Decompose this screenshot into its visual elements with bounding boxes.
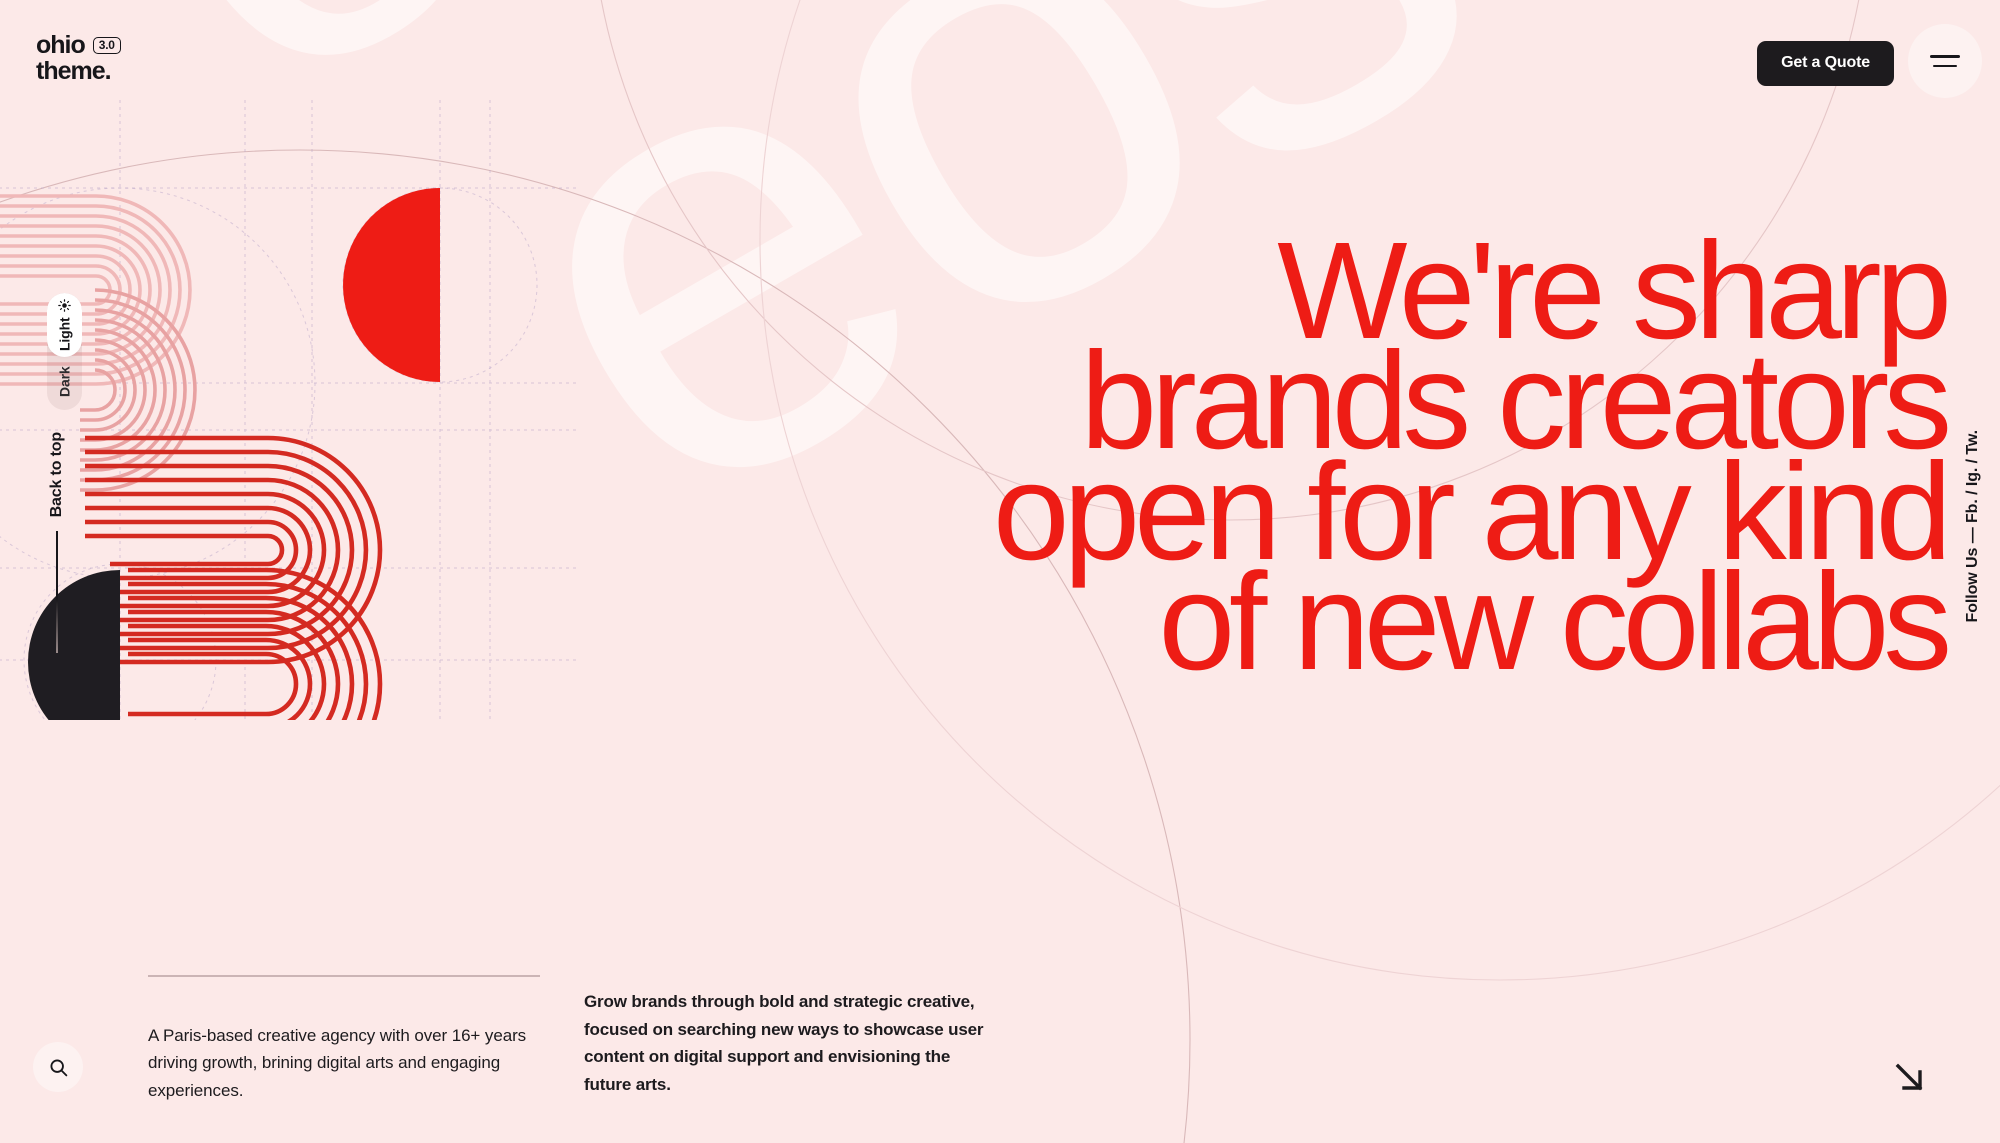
sun-icon bbox=[58, 299, 71, 312]
intro-copy-left: A Paris-based creative agency with over … bbox=[148, 975, 548, 1104]
intro-copy-left-text: A Paris-based creative agency with over … bbox=[148, 1022, 548, 1105]
intro-copy-right-text: Grow brands through bold and strategic c… bbox=[584, 988, 984, 1098]
back-to-top-label: Back to top bbox=[48, 432, 66, 517]
hero-heading: We're sharp brands creators open for any… bbox=[616, 236, 1946, 678]
hamburger-menu-button[interactable] bbox=[1908, 24, 1982, 98]
divider-rule bbox=[148, 975, 540, 977]
logo-word-theme: theme. bbox=[36, 59, 121, 84]
search-icon bbox=[48, 1057, 69, 1078]
theme-option-dark[interactable]: Dark bbox=[47, 354, 82, 410]
page-root: osre eoso bbox=[0, 0, 2000, 1143]
theme-option-dark-label: Dark bbox=[57, 367, 73, 398]
site-header: ohio 3.0 theme. Get a Quote bbox=[0, 0, 2000, 120]
follow-us-links[interactable]: Follow Us — Fb. / Ig. / Tw. bbox=[1964, 430, 1982, 623]
intro-copy-right: Grow brands through bold and strategic c… bbox=[584, 988, 984, 1098]
hero-line-4: of new collabs bbox=[616, 567, 1946, 677]
back-to-top-line bbox=[56, 531, 58, 653]
search-button[interactable] bbox=[33, 1042, 83, 1092]
theme-toggle[interactable]: Light Dark bbox=[47, 293, 82, 410]
theme-option-light-label: Light bbox=[57, 317, 73, 351]
get-a-quote-button[interactable]: Get a Quote bbox=[1757, 41, 1894, 86]
arrow-down-right-icon bbox=[1892, 1060, 1928, 1096]
logo-row-top: ohio 3.0 bbox=[36, 33, 121, 58]
logo-word-ohio: ohio bbox=[36, 33, 85, 58]
decorative-graphic bbox=[0, 100, 580, 720]
hero-title: We're sharp brands creators open for any… bbox=[616, 236, 1946, 678]
hamburger-icon-bar-top bbox=[1930, 55, 1960, 57]
theme-option-light[interactable]: Light bbox=[47, 293, 82, 357]
logo-version-badge: 3.0 bbox=[93, 37, 121, 54]
logo[interactable]: ohio 3.0 theme. bbox=[36, 33, 121, 84]
hamburger-icon-bar-bottom bbox=[1933, 65, 1957, 67]
back-to-top-control[interactable]: Back to top bbox=[48, 432, 66, 653]
scroll-down-arrow-button[interactable] bbox=[1892, 1060, 1928, 1101]
